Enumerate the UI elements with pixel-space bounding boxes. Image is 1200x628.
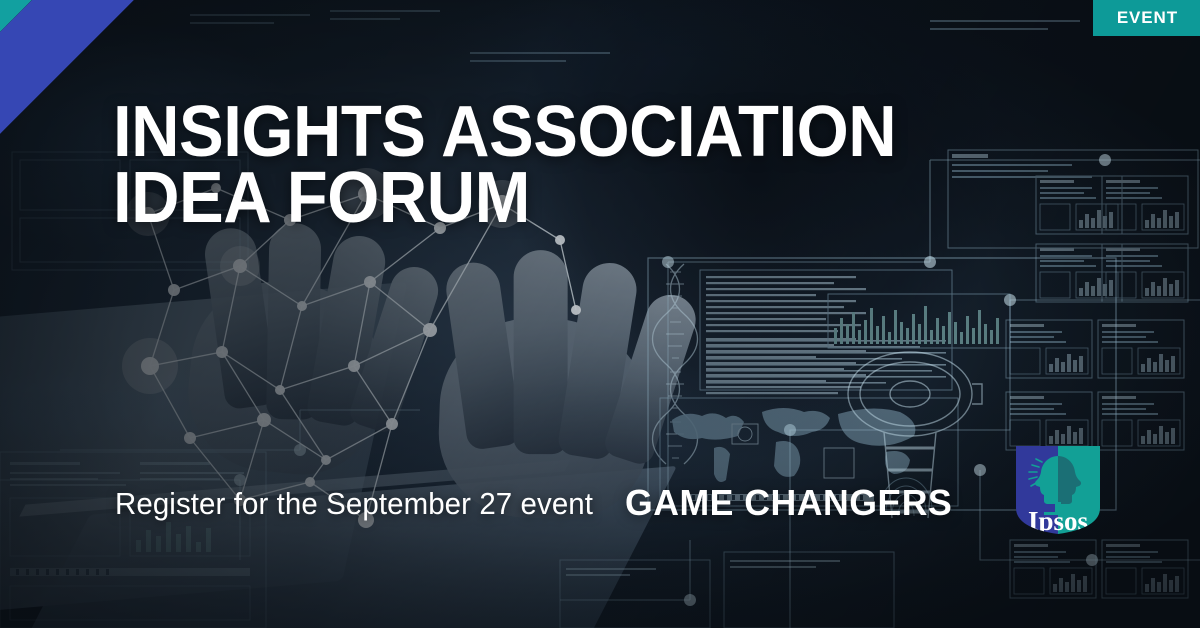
register-cta-text[interactable]: Register for the September 27 event: [115, 486, 593, 522]
page-title: INSIGHTS ASSOCIATION IDEA FORUM: [113, 99, 896, 231]
blue-stripe: [0, 0, 283, 487]
ipsos-logo-wordmark: Ipsos: [1028, 506, 1088, 536]
event-badge-label: EVENT: [1117, 8, 1178, 28]
event-badge: EVENT: [1093, 0, 1200, 36]
ipsos-logo: Ipsos: [1014, 444, 1102, 536]
page-title-line-1: INSIGHTS ASSOCIATION: [113, 99, 896, 165]
event-promo-banner: EVENT INSIGHTS ASSOCIATION IDEA FORUM Re…: [0, 0, 1200, 628]
game-changers-wordmark: GAME CHANGERS: [625, 482, 952, 524]
page-title-line-2: IDEA FORUM: [113, 165, 896, 231]
